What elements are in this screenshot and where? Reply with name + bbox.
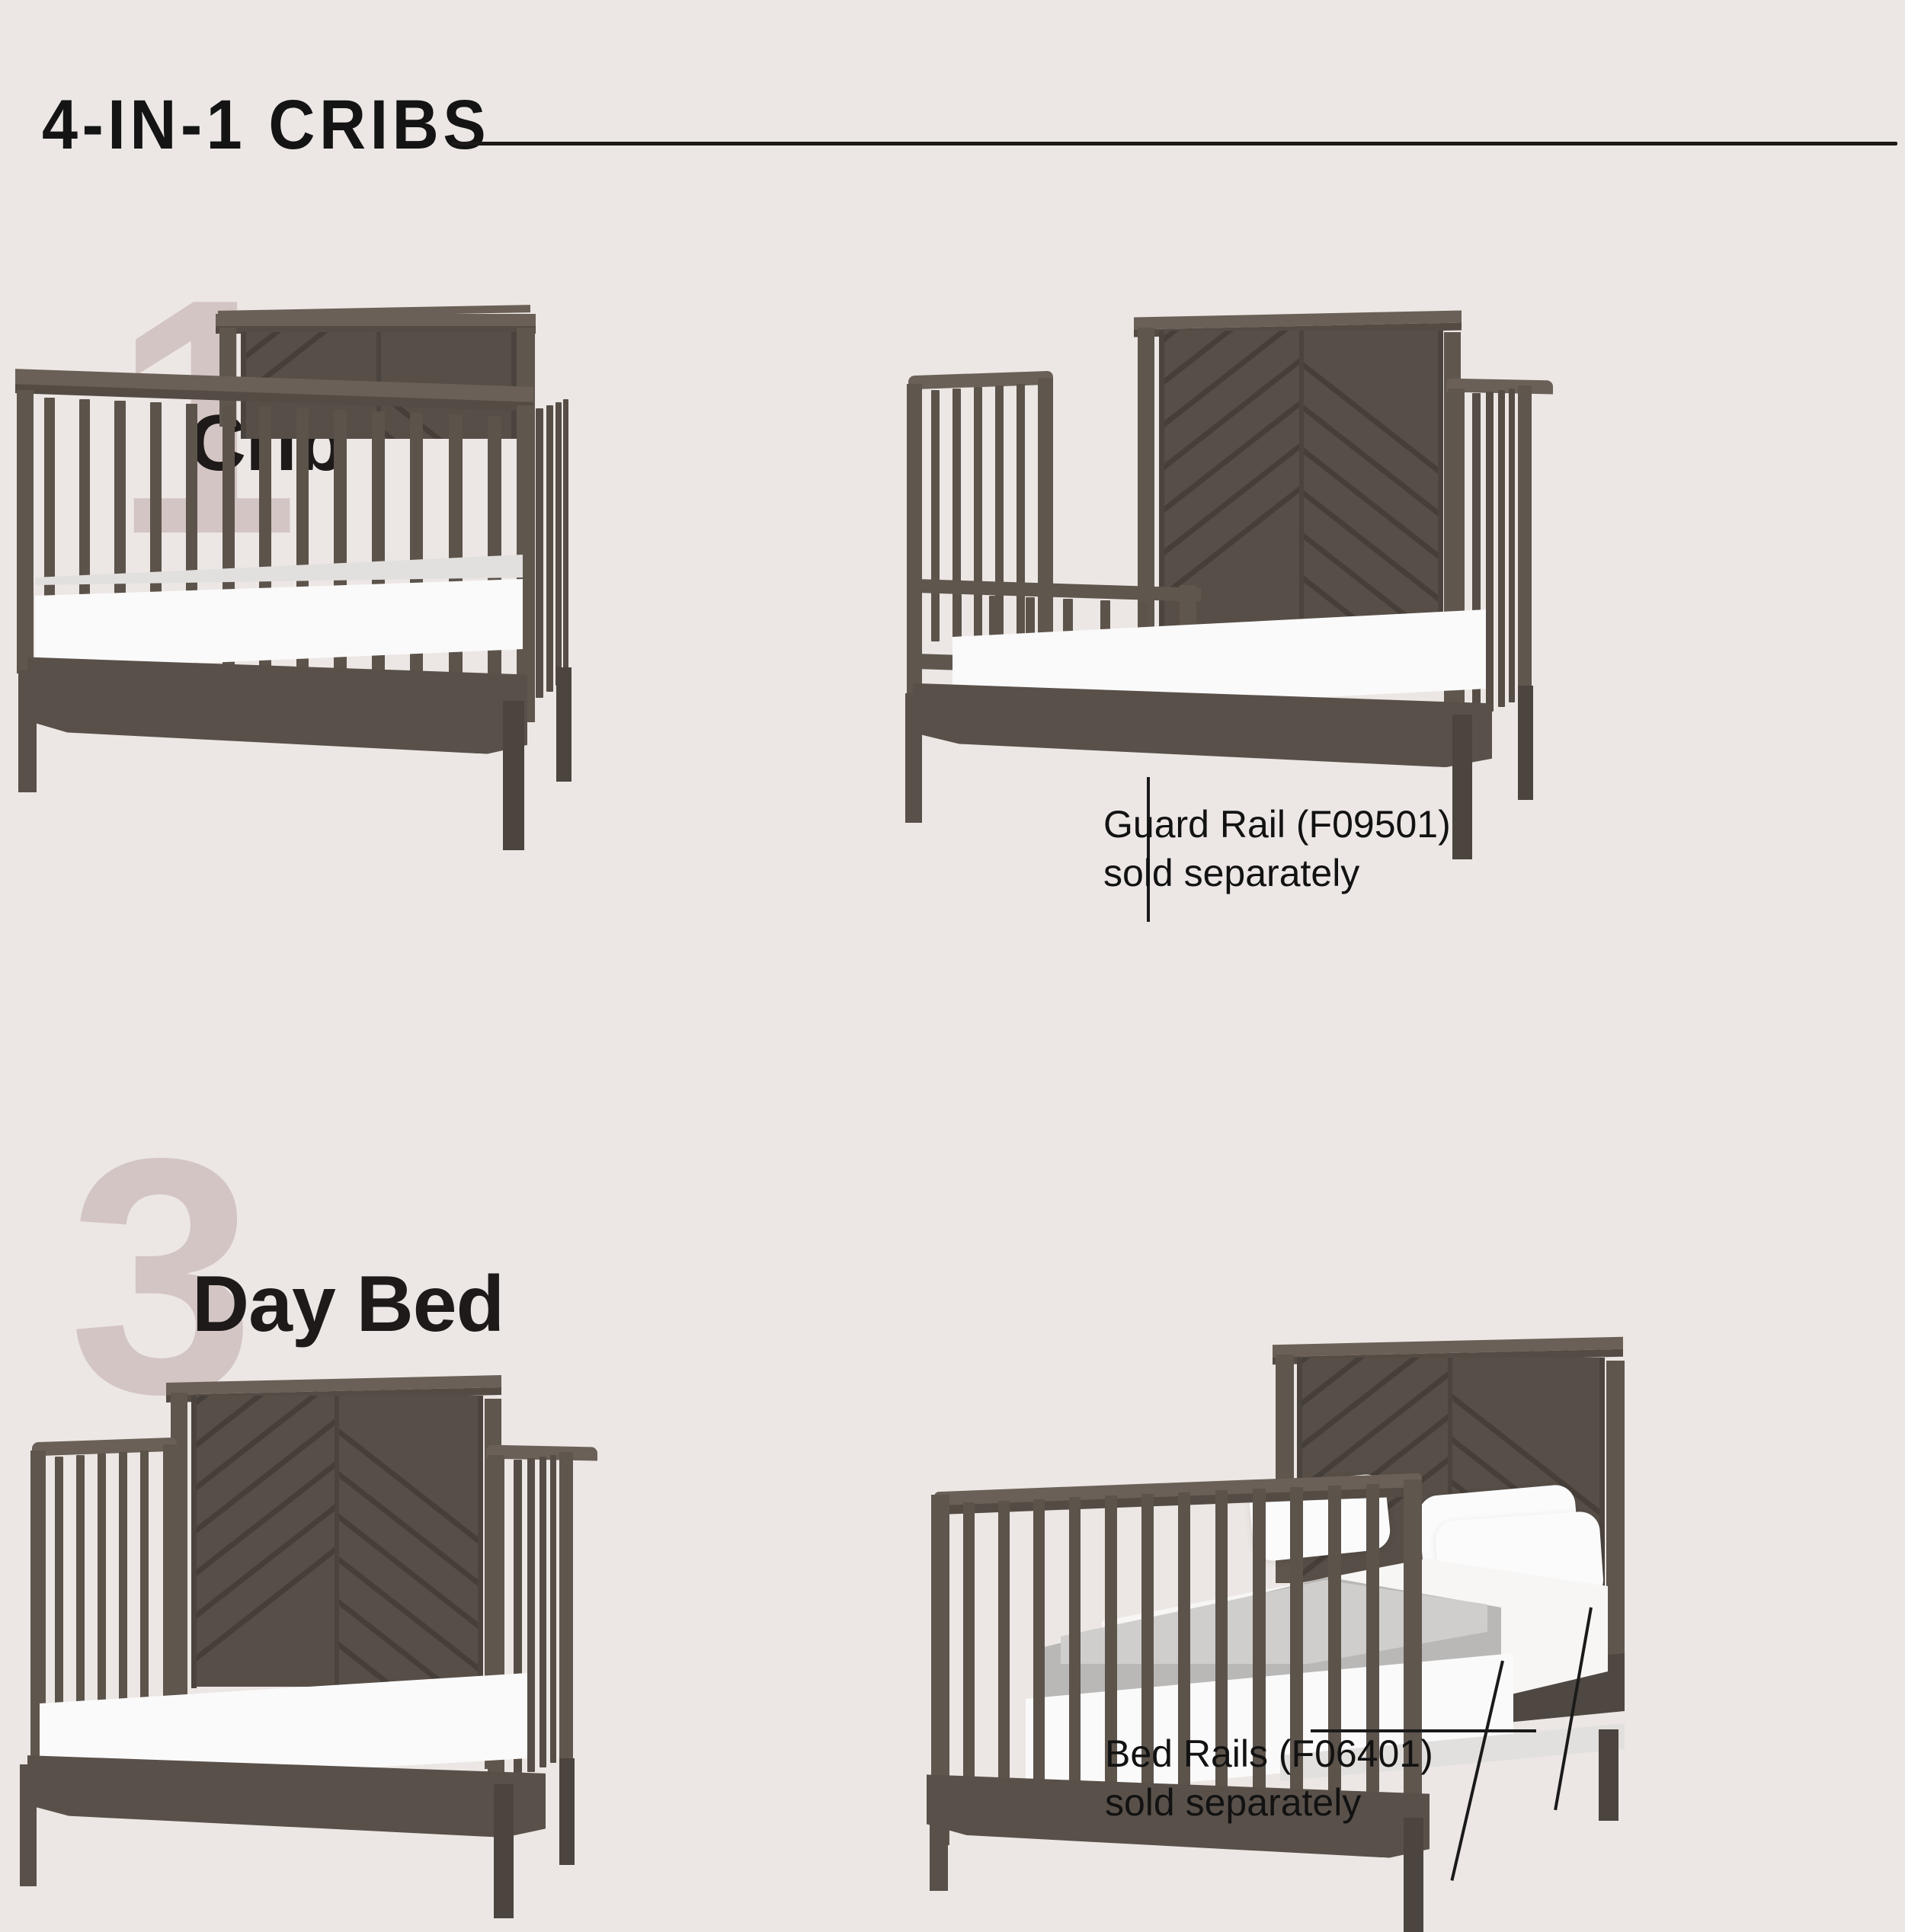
- guard-rail-caption-line2: sold separately: [1103, 849, 1451, 897]
- guard-rail-caption: Guard Rail (F09501) sold separately: [1103, 800, 1451, 897]
- page-title: 4-IN-1 CRIBS: [42, 90, 490, 160]
- bed-rails-caption-line2: sold separately: [1105, 1778, 1433, 1827]
- bed-rails-caption: Bed Rails (F06401) sold separately: [1105, 1729, 1433, 1827]
- step-panel-crib: 1 Crib: [0, 198, 952, 1120]
- toddler-bed-illustration: [952, 198, 1905, 1120]
- step-panel-day-bed: 3 Day Bed: [0, 1120, 952, 1905]
- page-header: 4-IN-1 CRIBS: [0, 0, 1905, 198]
- bed-rails-caption-line1: Bed Rails (F06401): [1105, 1729, 1433, 1778]
- crib-illustration: [0, 198, 952, 1120]
- step-panel-full-bed: 4 Full Bed: [952, 1120, 1905, 1905]
- title-divider-rule: [451, 142, 1897, 146]
- guard-rail-caption-line1: Guard Rail (F09501): [1103, 800, 1451, 849]
- day-bed-illustration: [0, 1120, 952, 1905]
- step-panel-toddler-bed: 2 Toddler Bed: [952, 198, 1905, 1120]
